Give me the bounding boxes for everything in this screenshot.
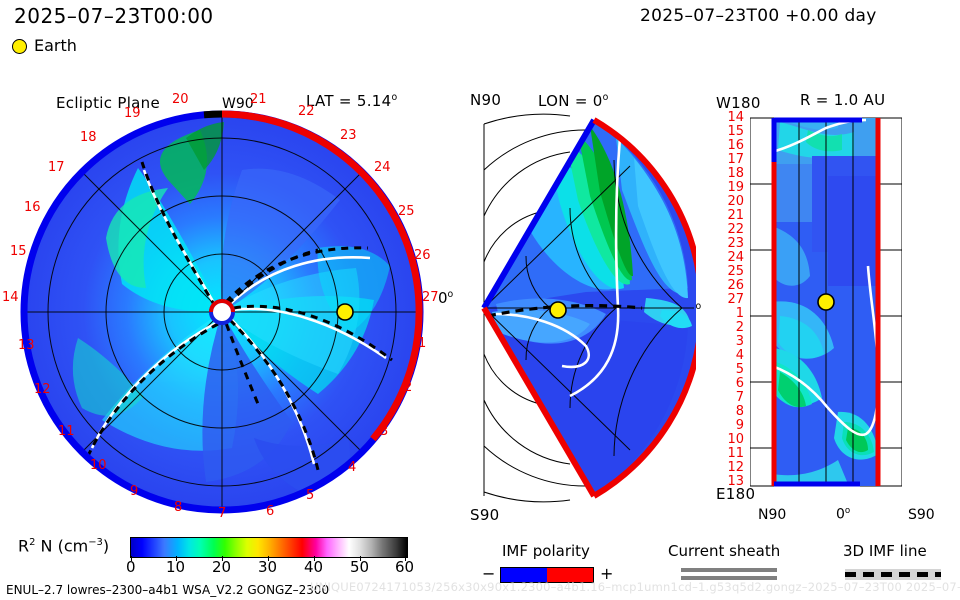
colorbar-label-n: N (cm xyxy=(35,536,88,555)
map-day-label: 8 xyxy=(720,404,744,419)
map-panel-title: R = 1.0 AU xyxy=(800,93,885,108)
imf-line-swatch-dash xyxy=(845,572,941,577)
imf-polarity-legend-title: IMF polarity xyxy=(502,544,590,559)
map-day-label: 14 xyxy=(720,110,744,125)
colorbar-exponent-2: −3 xyxy=(88,537,103,548)
ecliptic-rim-label: 21 xyxy=(250,92,267,107)
colorbar-tick-label: 0 xyxy=(126,558,136,576)
latlon-map-svg xyxy=(750,116,902,488)
map-day-label: 24 xyxy=(720,250,744,265)
meridional-north-label: N90 xyxy=(470,93,501,108)
degree-symbol-icon: o xyxy=(845,506,850,516)
earth-icon xyxy=(12,39,27,54)
map-day-label: 26 xyxy=(720,278,744,293)
epoch-label: 2025–07–23T00 +0.00 day xyxy=(640,8,877,25)
degree-symbol-icon: o xyxy=(696,301,702,312)
ecliptic-rim-label: 20 xyxy=(172,92,189,107)
ecliptic-rim-label: 23 xyxy=(340,128,357,143)
current-sheath-swatch-top xyxy=(681,568,777,572)
ecliptic-rim-label: 8 xyxy=(174,500,182,515)
map-day-label: 4 xyxy=(720,348,744,363)
degree-symbol-icon: o xyxy=(391,92,397,103)
ecliptic-rim-label: 5 xyxy=(306,488,314,503)
ecliptic-rim-label: 11 xyxy=(58,424,75,439)
colorbar-tick-label: 40 xyxy=(304,558,323,576)
map-day-label: 20 xyxy=(720,194,744,209)
ecliptic-rim-label: 17 xyxy=(48,160,65,175)
map-day-label: 3 xyxy=(720,334,744,349)
map-day-label: 23 xyxy=(720,236,744,251)
ecliptic-plane-plot: 14 15 16 17 18 19 20 21 22 23 24 25 26 2… xyxy=(18,108,426,516)
map-x-label-zero: 0o xyxy=(836,507,850,522)
meridional-south-label: S90 xyxy=(470,508,500,523)
ecliptic-rim-label: 1 xyxy=(418,336,426,351)
ecliptic-rim-label: 10 xyxy=(90,458,107,473)
map-day-label: 27 xyxy=(720,292,744,307)
current-sheath-legend-title: Current sheath xyxy=(668,544,780,559)
meridional-plot xyxy=(466,108,696,508)
colorbar-label-r: R xyxy=(18,536,29,555)
ecliptic-rim-label: 9 xyxy=(130,484,138,499)
ecliptic-svg xyxy=(18,108,426,516)
map-day-label: 21 xyxy=(720,208,744,223)
ecliptic-rim-label: 2 xyxy=(404,380,412,395)
ecliptic-rim-label: 14 xyxy=(2,290,19,305)
ecliptic-right-value: 0 xyxy=(438,289,448,307)
map-day-label: 19 xyxy=(720,180,744,195)
latitude-readout: LAT = 5.14o xyxy=(306,93,397,109)
map-x-zero-value: 0 xyxy=(836,507,845,523)
ecliptic-rim-label: 24 xyxy=(374,160,391,175)
meridional-panel-title: LON = 0o xyxy=(538,93,609,109)
map-day-label: 11 xyxy=(720,446,744,461)
colorbar-label-close: ) xyxy=(103,536,109,555)
ecliptic-rim-label: 4 xyxy=(348,460,356,475)
map-day-label: 17 xyxy=(720,152,744,167)
ecliptic-rim-label: 16 xyxy=(24,200,41,215)
colorbar-tick-label: 60 xyxy=(395,558,414,576)
map-x-label-s90: S90 xyxy=(908,508,935,522)
map-day-label: 6 xyxy=(720,376,744,391)
colorbar-tick-label: 30 xyxy=(258,558,277,576)
ecliptic-rim-label: 19 xyxy=(124,106,141,121)
colorbar-tick-label: 10 xyxy=(166,558,185,576)
map-day-label: 10 xyxy=(720,432,744,447)
map-day-label: 1 xyxy=(720,306,744,321)
map-day-label: 16 xyxy=(720,138,744,153)
meridional-svg xyxy=(466,108,696,508)
map-day-label: 15 xyxy=(720,124,744,139)
degree-symbol-icon: o xyxy=(448,289,454,300)
map-day-label: 22 xyxy=(720,222,744,237)
degree-symbol-icon: o xyxy=(603,92,609,103)
imf-line-legend-title: 3D IMF line xyxy=(843,544,927,559)
ecliptic-rim-label: 6 xyxy=(266,504,274,519)
map-day-label: 5 xyxy=(720,362,744,377)
colorbar-tick-label: 50 xyxy=(350,558,369,576)
map-day-label: 2 xyxy=(720,320,744,335)
ecliptic-rim-label: 3 xyxy=(380,424,388,439)
ecliptic-rim-label: 7 xyxy=(218,506,226,521)
map-x-label-n90: N90 xyxy=(758,508,786,522)
colorbar-gradient[interactable] xyxy=(130,537,408,558)
latlon-map-plot: 14 15 16 17 18 19 20 21 22 23 24 25 26 2… xyxy=(750,116,902,488)
map-day-label: 7 xyxy=(720,390,744,405)
ecliptic-rim-label: 22 xyxy=(298,104,315,119)
map-day-label: 18 xyxy=(720,166,744,181)
timestamp-label: 2025–07–23T00:00 xyxy=(14,6,214,26)
map-day-label: 9 xyxy=(720,418,744,433)
ecliptic-rim-label: 13 xyxy=(18,338,35,353)
map-day-label: 12 xyxy=(720,460,744,475)
map-day-label: 13 xyxy=(720,474,744,489)
ecliptic-rim-label: 12 xyxy=(34,382,51,397)
colorbar-tick-label: 20 xyxy=(212,558,231,576)
watermark-label: UNIQUE0724171053/256x30x90x1.2300–a4b1.1… xyxy=(310,582,960,594)
ecliptic-rim-label: 18 xyxy=(80,130,97,145)
earth-legend: Earth xyxy=(12,38,77,54)
map-bottom-label: E180 xyxy=(716,487,755,502)
ecliptic-right-label: 0o xyxy=(438,290,453,306)
earth-legend-label: Earth xyxy=(34,38,77,54)
model-credit-label: ENUL–2.7 lowres–2300–a4b1 WSA_V2.2 GONGZ… xyxy=(6,584,329,596)
colorbar-label: R2 N (cm−3) xyxy=(18,538,109,554)
ecliptic-rim-label: 25 xyxy=(398,204,415,219)
map-top-label: W180 xyxy=(716,96,761,111)
ecliptic-rim-label: 15 xyxy=(10,244,27,259)
ecliptic-rim-label: 26 xyxy=(414,248,431,263)
ecliptic-rim-label: 27 xyxy=(422,290,439,305)
map-day-label: 25 xyxy=(720,264,744,279)
